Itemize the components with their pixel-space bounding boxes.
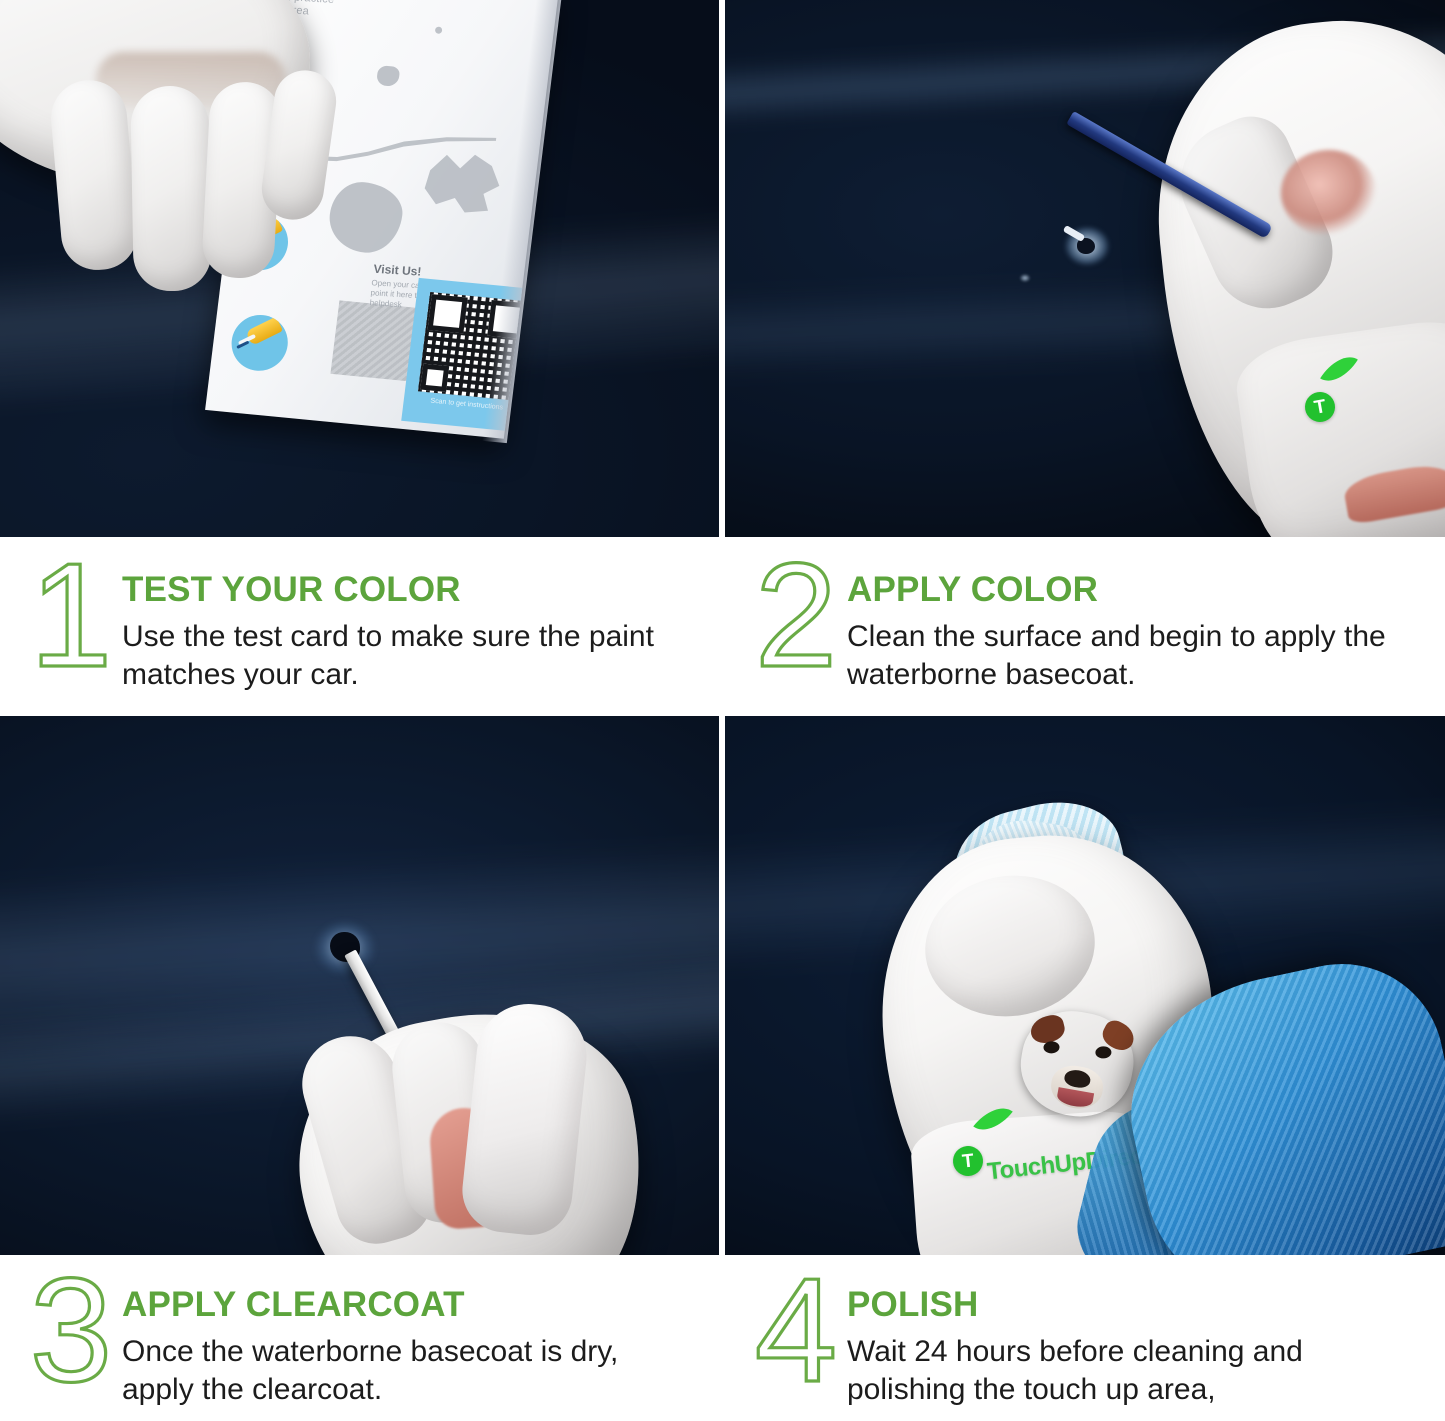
step-1-title: TEST YOUR COLOR (122, 572, 682, 609)
step-4-number: 4 (743, 1263, 847, 1399)
step-4-caption: 4 POLISH Wait 24 hours before cleaning a… (725, 1255, 1445, 1421)
step-number-glyph: 4 (755, 1263, 835, 1399)
step-2-description: Clean the surface and begin to apply the… (847, 618, 1407, 695)
paint-chip-secondary (1017, 272, 1033, 284)
skin-showing (1281, 150, 1377, 236)
instruction-infographic: Star and practice ay area Visit Us! (0, 0, 1445, 1421)
step-1-photo: Star and practice ay area Visit Us! (0, 0, 719, 537)
step-4-description: Wait 24 hours before cleaning and polish… (847, 1333, 1407, 1410)
step-3-photo (0, 716, 719, 1255)
step-3-caption: 3 APPLY CLEARCOAT Once the waterborne ba… (0, 1255, 719, 1421)
step-4-title: POLISH (847, 1287, 1407, 1324)
step-3-number: 3 (18, 1263, 122, 1399)
step-1-number: 1 (18, 548, 122, 684)
step-4-photo: T TouchUpDirect (725, 716, 1445, 1255)
step-3-title: APPLY CLEARCOAT (122, 1287, 682, 1324)
step-1-caption: 1 TEST YOUR COLOR Use the test card to m… (0, 540, 719, 716)
step-2-photo: T (725, 0, 1445, 537)
step-number-glyph: 1 (30, 548, 110, 684)
step-2-title: APPLY COLOR (847, 572, 1407, 609)
step-2-caption: 2 APPLY COLOR Clean the surface and begi… (725, 540, 1445, 716)
step-number-glyph: 2 (755, 548, 835, 684)
step-2-number: 2 (743, 548, 847, 684)
step-1-description: Use the test card to make sure the paint… (122, 618, 682, 695)
step-3-description: Once the waterborne basecoat is dry, app… (122, 1333, 682, 1410)
step-number-glyph: 3 (30, 1263, 110, 1399)
